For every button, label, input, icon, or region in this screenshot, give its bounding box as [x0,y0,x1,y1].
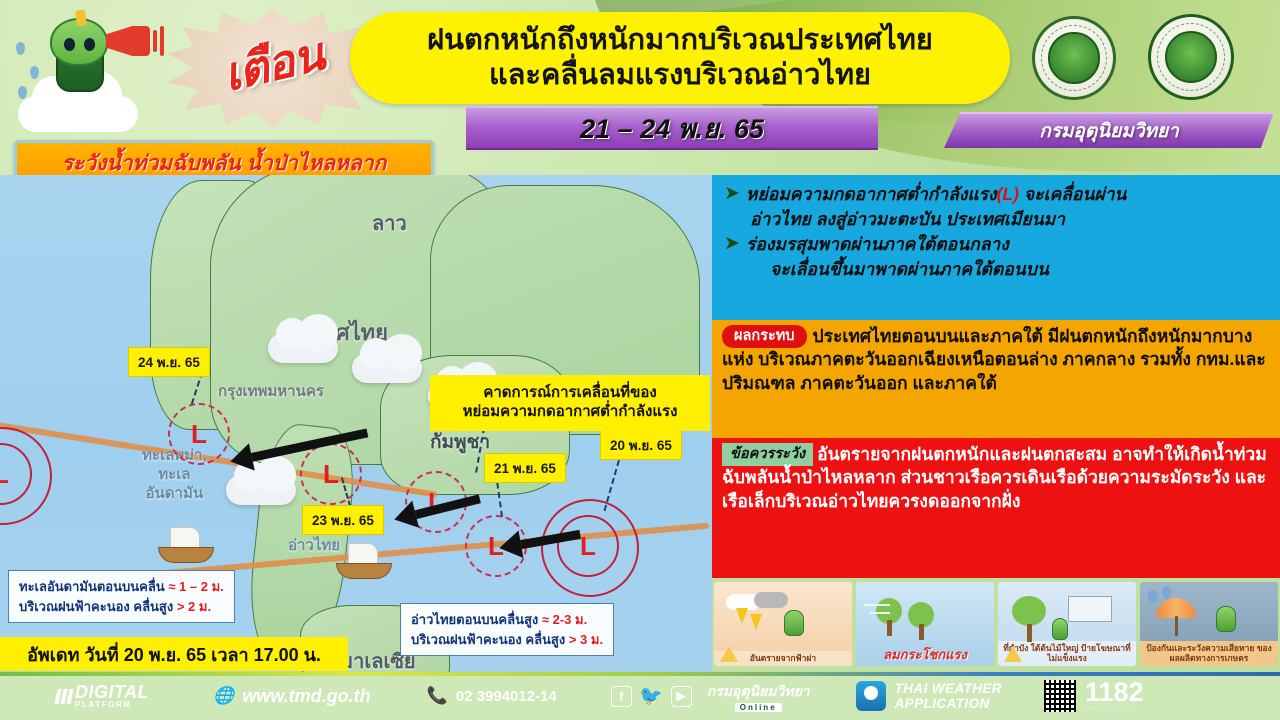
date-tag-20: 20 พ.ย. 65 [600,430,682,460]
mascot-cloud [18,96,138,132]
social-links: f 🐦 ▶ กรมอุตุนิยมวิทยา Online [611,681,810,712]
facebook-icon[interactable]: f [611,686,632,707]
low-pressure-letter: L [0,443,32,505]
sea-condition-gulf: อ่าวไทยตอนบนคลื่นสูง ≈ 2-3 ม. บริเวณฝนฟ้… [400,603,614,656]
mascot-megaphone [10,8,170,138]
online-name: กรมอุตุนิยมวิทยา [707,681,810,703]
advisory-cards: อันตรายจากฟ้าผ่า ลมกระโชกแรง ที่กำบัง ใต… [714,582,1278,666]
advisory-card-agriculture[interactable]: ป้องกันและระวังความเสียหาย ของผลผลิตทางก… [1140,582,1278,666]
gulf-value2: > 3 ม. [569,632,603,647]
meteorological-department-emblem-icon [1148,14,1234,100]
low-pressure-marker: L [0,443,32,505]
bullet-icon: ➤ [724,183,740,205]
footer-bar: DIGITAL PLATFORM 🌐 www.tmd.go.th 📞 02 39… [0,672,1280,720]
low-pressure-marker: L [300,443,362,505]
callout-line-1: คาดการณ์การเคลื่อนที่ของ [483,384,656,403]
storm-cloud-icon [352,353,422,383]
storm-cloud-icon [226,475,296,505]
forecast-b2-line2: จะเลื่อนขึ้นมาพาดผ่านภาคใต้ตอนบน [724,258,1268,281]
page-title: ฝนตกหนักถึงหนักมากบริเวณประเทศไทย และคลื… [350,12,1010,104]
logo-word: DIGITAL [75,683,149,701]
andaman-line1: ทะเลอันดามันตอนบนคลื่น [19,579,165,594]
advisory-card-shelter[interactable]: ที่กำบัง ใต้ต้นไม้ใหญ่ ป้ายโฆษณาที่ไม่แข… [998,582,1136,666]
twitter-icon[interactable]: 🐦 [641,686,662,707]
update-timestamp: อัพเดท วันที่ 20 พ.ย. 65 เวลา 17.00 น. [27,640,321,669]
low-pressure-marker: L [557,515,619,577]
umbrella-crops-icon [1140,582,1278,666]
date-tag-21: 21 พ.ย. 65 [484,453,566,483]
update-timestamp-strip: อัพเดท วันที่ 20 พ.ย. 65 เวลา 17.00 น. [0,637,348,671]
low-pressure-marker: L [168,403,230,465]
advisory-card-lightning[interactable]: อันตรายจากฟ้าผ่า [714,582,852,666]
gulf-line2: บริเวณฝนฟ้าคะนอง คลื่นสูง [411,632,565,647]
globe-icon: 🌐 [213,686,234,706]
impact-badge: ผลกระทบ [722,325,807,348]
low-pressure-letter: L [168,403,230,465]
andaman-value2: > 2 ม. [177,599,211,614]
date-range-text: 21 – 24 พ.ย. 65 [580,107,764,150]
warning-triangle-icon [720,646,738,662]
phone-icon: 📞 [427,686,448,706]
phone-text: 02 3994012-14 [456,688,557,705]
title-line-2: และคลื่นลมแรงบริเวณอ่าวไทย [489,58,871,93]
forecast-low-symbol: (L) [997,184,1019,204]
advisory-card-wind[interactable]: ลมกระโชกแรง [856,582,994,666]
warning-triangle-icon [1004,646,1022,662]
boat-icon [156,527,216,567]
mascot-head [50,18,108,66]
app-icon [856,681,886,711]
department-banner: กรมอุตุนิยมวิทยา [944,112,1274,148]
gulf-value1: ≈ 2-3 ม. [542,612,587,627]
phone-number[interactable]: 📞 02 3994012-14 [427,686,557,706]
boat-icon [334,543,394,583]
title-line-1: ฝนตกหนักถึงหนักมากบริเวณประเทศไทย [427,23,933,58]
bars-icon [56,689,72,704]
strong-wind-trees-icon [856,582,994,666]
digital-platform-logo: DIGITAL PLATFORM [56,683,149,709]
youtube-icon[interactable]: ▶ [671,686,692,707]
qr-code-icon[interactable] [1044,680,1076,712]
hotline-qr: 1182 www.tmd.go.th [1044,679,1144,713]
low-pressure-letter: L [300,443,362,505]
forecast-panel: ➤ หย่อมความกดอากาศต่ำกำลังแรง(L) จะเคลื่… [712,175,1280,320]
tmd-online-label: กรมอุตุนิยมวิทยา Online [707,681,810,712]
megaphone-icon [106,26,150,56]
storm-cloud-icon [268,333,338,363]
date-range-banner: 21 – 24 พ.ย. 65 [466,106,878,150]
logo-sub: PLATFORM [75,701,149,709]
andaman-line2: บริเวณฝนฟ้าคะนอง คลื่นสูง [19,599,173,614]
date-tag-23: 23 พ.ย. 65 [302,505,384,535]
impact-panel: ผลกระทบประเทศไทยตอนบนและภาคใต้ มีฝนตกหนั… [712,320,1280,438]
caution-panel: ข้อควรระวังอันตรายจากฝนตกหนักและฝนตกสะสม… [712,438,1280,578]
infographic-root: เตือน ฝนตกหนักถึงหนักมากบริเวณประเทศไทย … [0,0,1280,720]
bullet-icon: ➤ [724,233,740,255]
sea-condition-andaman: ทะเลอันดามันตอนบนคลื่น ≈ 1 – 2 ม. บริเวณ… [8,570,235,623]
forecast-b1-text-b: จะเคลื่อนผ่าน [1019,184,1126,204]
forecast-b1-line2: อ่าวไทย ลงสู่อ่าวมะตะบัน ประเทศเมียนมา [724,208,1268,231]
ministry-emblem-icon [1032,16,1116,100]
website-link[interactable]: 🌐 www.tmd.go.th [213,686,370,707]
forecast-b1-text-a: หย่อมความกดอากาศต่ำกำลังแรง [746,184,997,204]
weather-map[interactable]: ลาว เวียดนาม กัมพูชา ประเทศไทย กรุงเทพมห… [0,175,712,672]
app-line-1: THAI WEATHER [895,681,1002,696]
low-pressure-letter: L [557,515,619,577]
gulf-line1: อ่าวไทยตอนบนคลื่นสูง [411,612,538,627]
map-label-bangkok: กรุงเทพมหานคร [218,379,324,403]
online-tag: Online [735,703,782,712]
hotline-sub: www.tmd.go.th [1085,706,1131,713]
hotline-number: 1182 [1085,679,1144,706]
website-text: www.tmd.go.th [242,686,370,707]
forecast-b2-line1: ร่องมรสุมพาดผ่านภาคใต้ตอนกลาง [746,233,1009,256]
map-label-gulf-of-thailand: อ่าวไทย [288,533,340,557]
caution-badge: ข้อควรระวัง [722,443,813,466]
map-label-laos: ลาว [372,207,407,239]
department-name: กรมอุตุนิยมวิทยา [1039,116,1179,146]
date-tag-24: 24 พ.ย. 65 [128,347,210,377]
app-line-2: APPLICATION [895,696,1002,711]
forecast-callout: คาดการณ์การเคลื่อนที่ของ หย่อมความกดอากา… [430,375,710,431]
callout-line-2: หย่อมความกดอากาศต่ำกำลังแรง [463,403,678,422]
thai-weather-app[interactable]: THAI WEATHER APPLICATION [856,681,1002,711]
andaman-value1: ≈ 1 – 2 ม. [168,579,223,594]
